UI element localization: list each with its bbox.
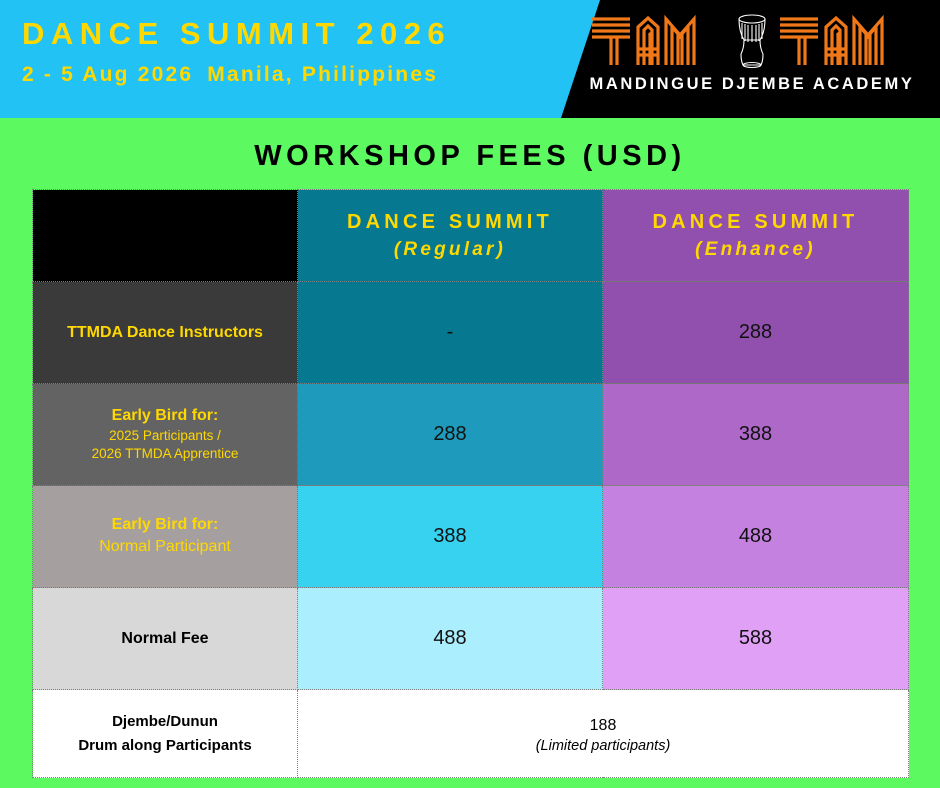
- footer-label-line1: Djembe/Dunun: [33, 710, 297, 734]
- event-title: DANCE SUMMIT 2026: [22, 18, 600, 51]
- footer-note: (Limited participants): [298, 738, 908, 754]
- logo-tagline: MANDINGUE DJEMBE ACADEMY: [582, 75, 922, 94]
- table-row: TTMDA Dance Instructors - 288: [33, 282, 909, 384]
- row-regular-amount: 288: [298, 384, 603, 486]
- event-dates: 2 - 5 Aug 2026: [22, 63, 193, 86]
- table-footer-row: Djembe/Dunun Drum along Participants 188…: [33, 690, 909, 778]
- brand-logo: MANDINGUE DJEMBE ACADEMY: [582, 14, 922, 106]
- event-details: 2 - 5 Aug 2026Manila, Philippines: [22, 63, 600, 87]
- header-cell-blank: [33, 190, 298, 282]
- fees-table-wrapper: DANCE SUMMIT (Regular) DANCE SUMMIT (Enh…: [32, 189, 908, 778]
- workshop-fees-table: DANCE SUMMIT (Regular) DANCE SUMMIT (Enh…: [32, 189, 909, 778]
- header-enhance-subtitle: (Enhance): [607, 237, 904, 263]
- logo-word-right-icon: [778, 15, 914, 72]
- logo-wordmark-row: [582, 14, 922, 72]
- table-row: Normal Fee 488 588: [33, 588, 909, 690]
- row-label-sub: 2025 Participants /: [43, 427, 287, 446]
- row-label-cell: Normal Fee: [33, 588, 298, 690]
- row-label-main: Early Bird for:: [43, 514, 287, 536]
- header-regular-title: DANCE SUMMIT: [302, 208, 598, 237]
- row-regular-amount: 388: [298, 486, 603, 588]
- row-label-main: Normal Fee: [43, 628, 287, 650]
- row-enhance-amount: 488: [603, 486, 909, 588]
- footer-label-line2: Drum along Participants: [33, 734, 297, 758]
- header-cell-enhance: DANCE SUMMIT (Enhance): [603, 190, 909, 282]
- row-enhance-amount: 288: [603, 282, 909, 384]
- footer-amount: 188: [298, 714, 908, 738]
- row-enhance-amount: 588: [603, 588, 909, 690]
- row-label-main: Early Bird for:: [43, 405, 287, 427]
- row-label-cell: Early Bird for: 2025 Participants / 2026…: [33, 384, 298, 486]
- page-header: DANCE SUMMIT 2026 2 - 5 Aug 2026Manila, …: [0, 0, 940, 118]
- page-title: WORKSHOP FEES (USD): [0, 118, 940, 189]
- table-row: Early Bird for: 2025 Participants / 2026…: [33, 384, 909, 486]
- logo-word-left-icon: [590, 15, 726, 72]
- row-label-sub: Normal Participant: [43, 535, 287, 559]
- row-label-cell: TTMDA Dance Instructors: [33, 282, 298, 384]
- row-label-sub2: 2026 TTMDA Apprentice: [43, 445, 287, 464]
- djembe-drum-icon: [732, 13, 772, 74]
- header-enhance-title: DANCE SUMMIT: [607, 208, 904, 237]
- row-label-cell: Early Bird for: Normal Participant: [33, 486, 298, 588]
- table-row: Early Bird for: Normal Participant 388 4…: [33, 486, 909, 588]
- footer-amount-cell: 188 (Limited participants): [298, 690, 909, 778]
- row-enhance-amount: 388: [603, 384, 909, 486]
- table-header-row: DANCE SUMMIT (Regular) DANCE SUMMIT (Enh…: [33, 190, 909, 282]
- event-banner: DANCE SUMMIT 2026 2 - 5 Aug 2026Manila, …: [0, 0, 600, 118]
- row-regular-amount: -: [298, 282, 603, 384]
- row-label-main: TTMDA Dance Instructors: [43, 322, 287, 344]
- header-regular-subtitle: (Regular): [302, 237, 598, 263]
- footer-label-cell: Djembe/Dunun Drum along Participants: [33, 690, 298, 778]
- header-cell-regular: DANCE SUMMIT (Regular): [298, 190, 603, 282]
- row-regular-amount: 488: [298, 588, 603, 690]
- event-location: Manila, Philippines: [207, 63, 438, 86]
